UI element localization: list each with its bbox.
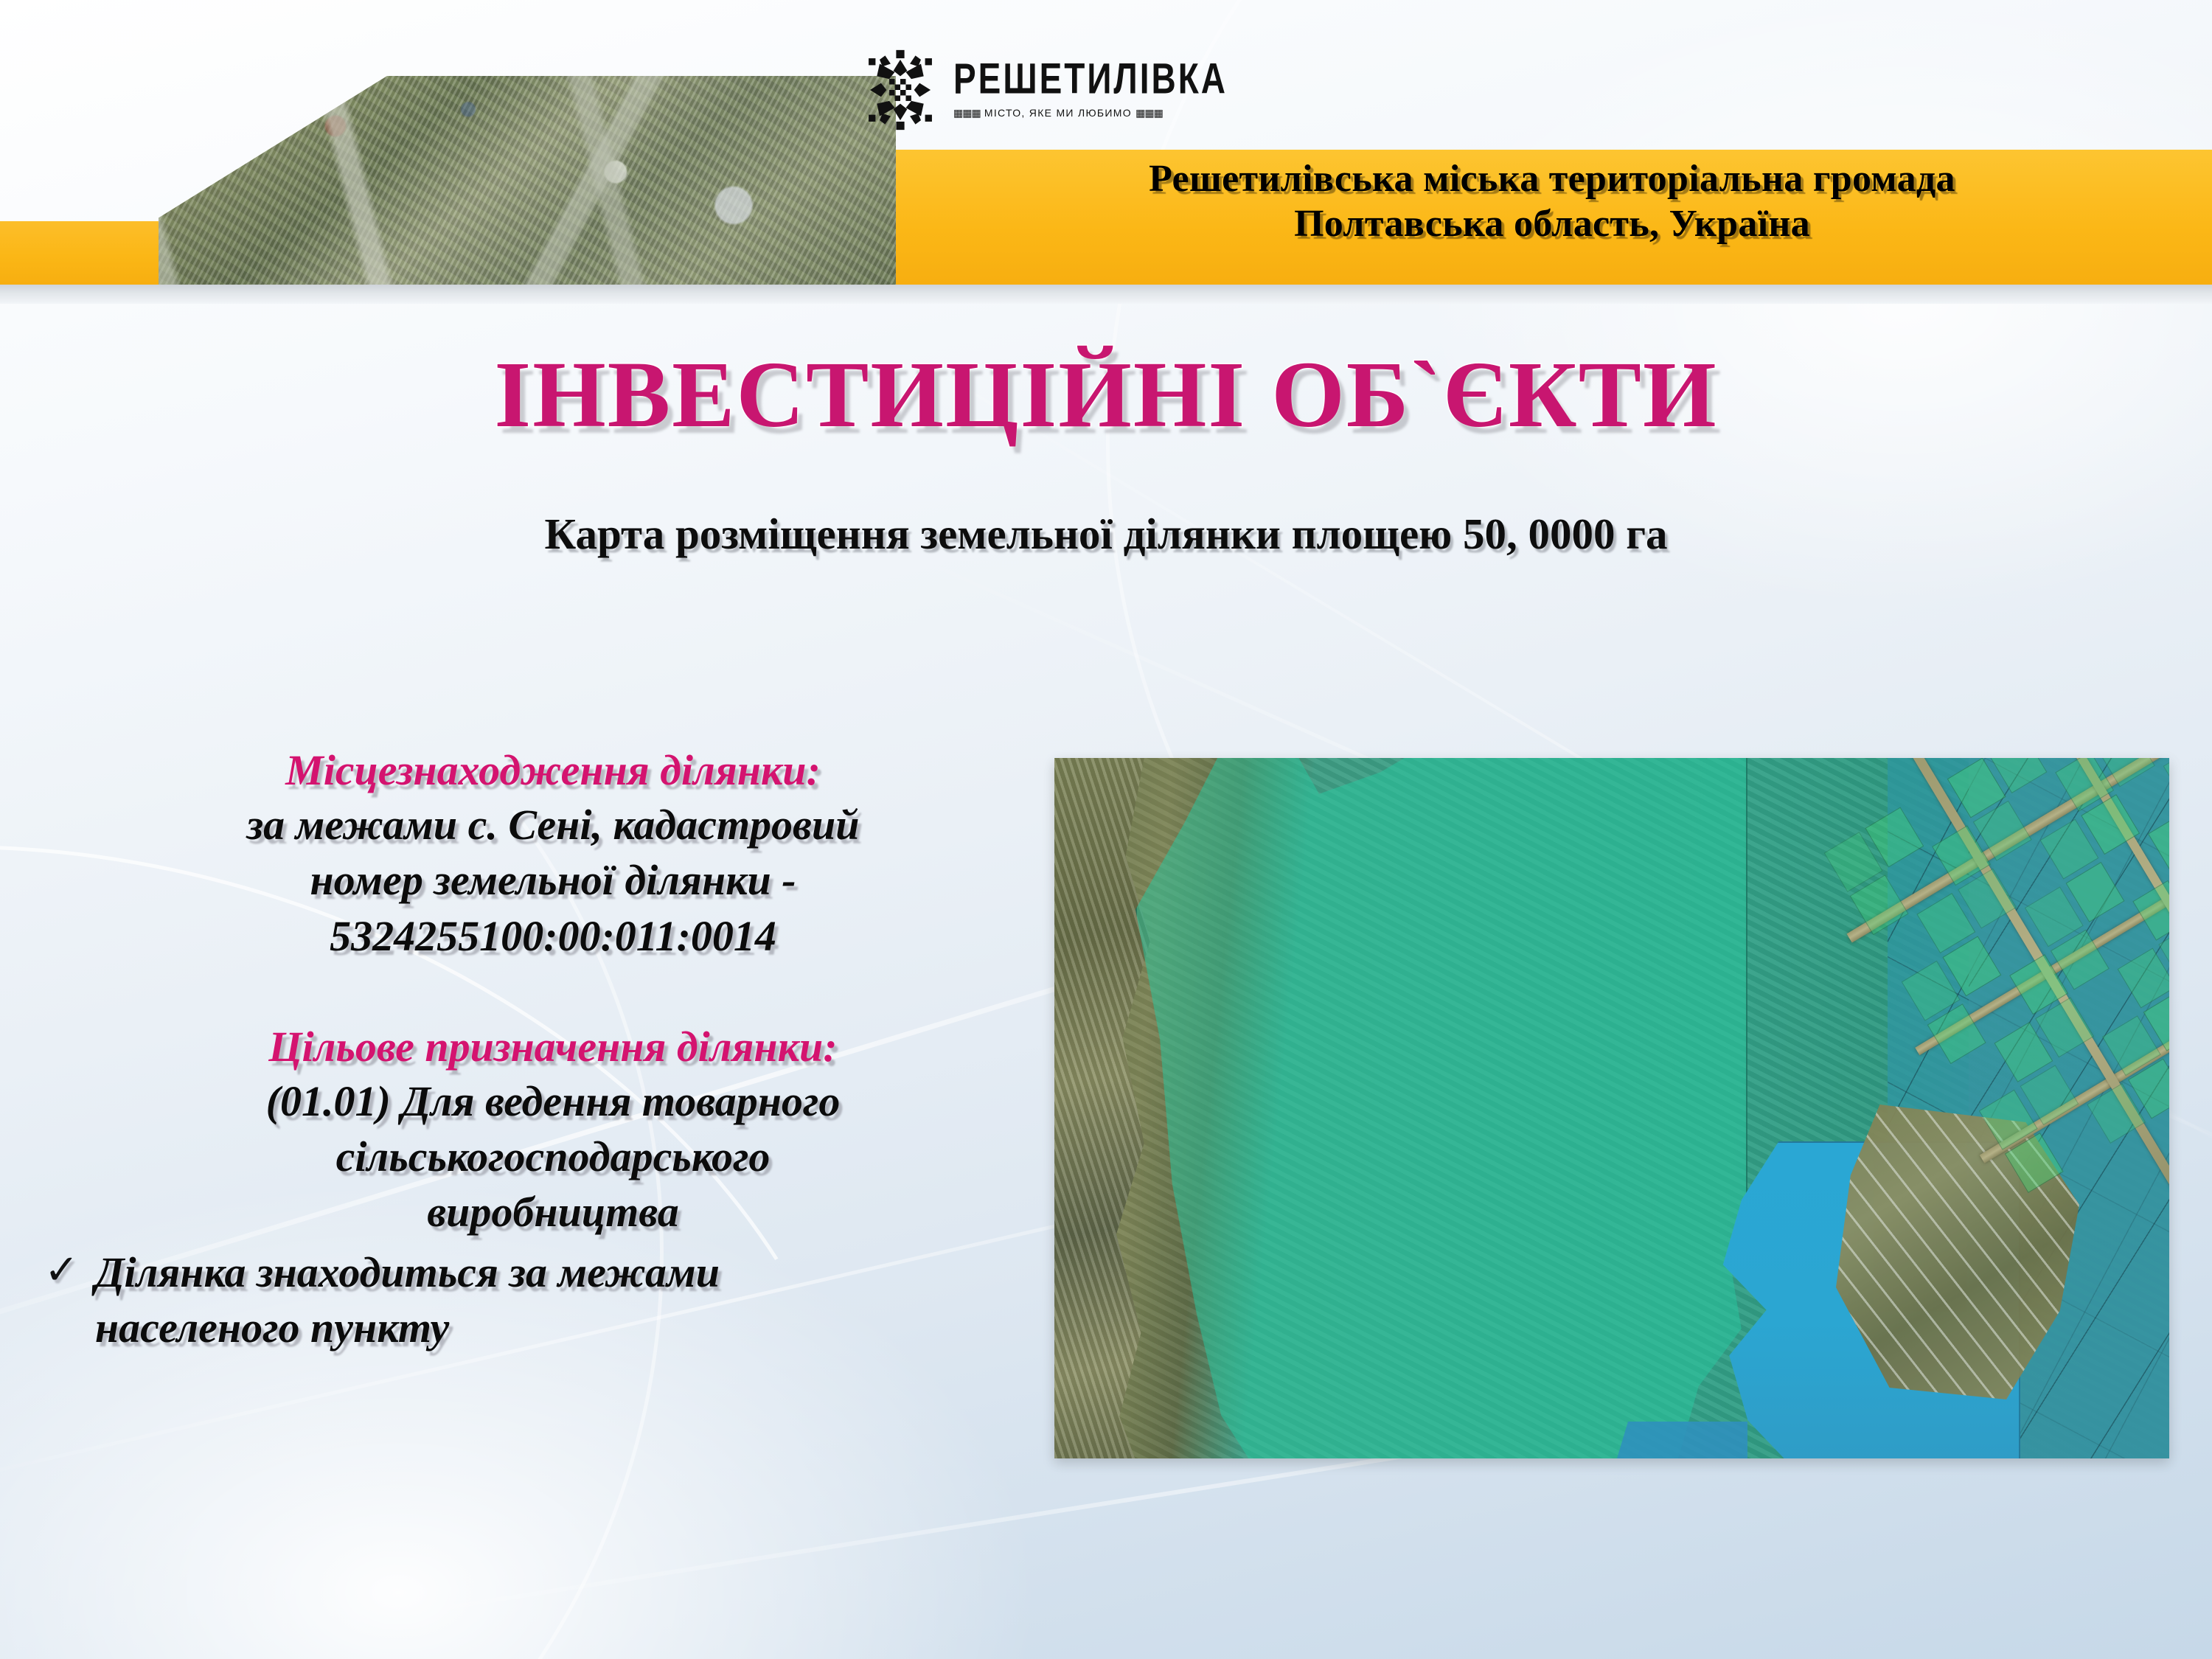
bullet-text-wrap: Ділянка знаходиться за межами населеного…: [95, 1245, 720, 1356]
bullet-line-2: населеного пункту: [95, 1300, 720, 1355]
slide-canvas: РЕШЕТИЛІВКА ▦▦▦ МІСТО, ЯКЕ МИ ЛЮБИМО ▦▦▦…: [0, 0, 2212, 1659]
map-home-parcel: [2132, 880, 2169, 941]
map-home-parcel: [2118, 947, 2169, 1008]
map-home-parcel: [2148, 813, 2169, 873]
cadastral-number: 5324255100:00:011:0014: [44, 908, 1062, 964]
logo-tagline: ▦▦▦ МІСТО, ЯКЕ МИ ЛЮБИМО ▦▦▦: [953, 107, 1228, 119]
town-aerial-photo: [159, 76, 896, 285]
location-line-2: номер земельної ділянки -: [44, 852, 1062, 908]
cadastral-map-image[interactable]: × Номер 5324255100:00:011:0014 Категорія…: [1054, 758, 2169, 1458]
map-selected-parcel[interactable]: [1135, 758, 1747, 1458]
spacer: [44, 964, 1062, 1021]
page-subtitle: Карта розміщення земельної ділянки площе…: [0, 509, 2212, 560]
purpose-line-3: виробництва: [44, 1184, 1062, 1239]
list-item: ✓ Ділянка знаходиться за межами населено…: [44, 1245, 1062, 1356]
details-column: Місцезнаходження ділянки: за межами с. С…: [44, 745, 1062, 1356]
logo-dot-ornament: ▦▦▦: [953, 107, 981, 119]
map-water-body-small: [1615, 1422, 1747, 1458]
bullet-line-1: Ділянка знаходиться за межами: [95, 1245, 720, 1300]
header-title-block: Решетилівська міська територіальна грома…: [892, 156, 2212, 247]
checkmark-icon: ✓: [44, 1245, 79, 1296]
embroidery-ornament-icon: [859, 49, 942, 131]
purpose-line-2: сільськогосподарського: [44, 1129, 1062, 1184]
header-title-line-1: Решетилівська міська територіальна грома…: [892, 156, 2212, 201]
header-silver-strip: [0, 285, 2212, 304]
logo-wordmark: РЕШЕТИЛІВКА: [953, 56, 1228, 100]
purpose-heading: Цільове призначення ділянки:: [44, 1021, 1062, 1074]
logo-dot-ornament: ▦▦▦: [1135, 107, 1163, 119]
purpose-line-1: (01.01) Для ведення товарного: [44, 1074, 1062, 1129]
header-title-line-2: Полтавська область, Україна: [892, 201, 2212, 246]
community-logo: РЕШЕТИЛІВКА ▦▦▦ МІСТО, ЯКЕ МИ ЛЮБИМО ▦▦▦: [859, 31, 1169, 149]
location-heading: Місцезнаходження ділянки:: [44, 745, 1062, 797]
page-title: ІНВЕСТИЦІЙНІ ОБ`ЄКТИ: [0, 341, 2212, 449]
location-line-1: за межами с. Сені, кадастровий: [44, 797, 1062, 852]
map-home-parcel: [2163, 758, 2169, 805]
